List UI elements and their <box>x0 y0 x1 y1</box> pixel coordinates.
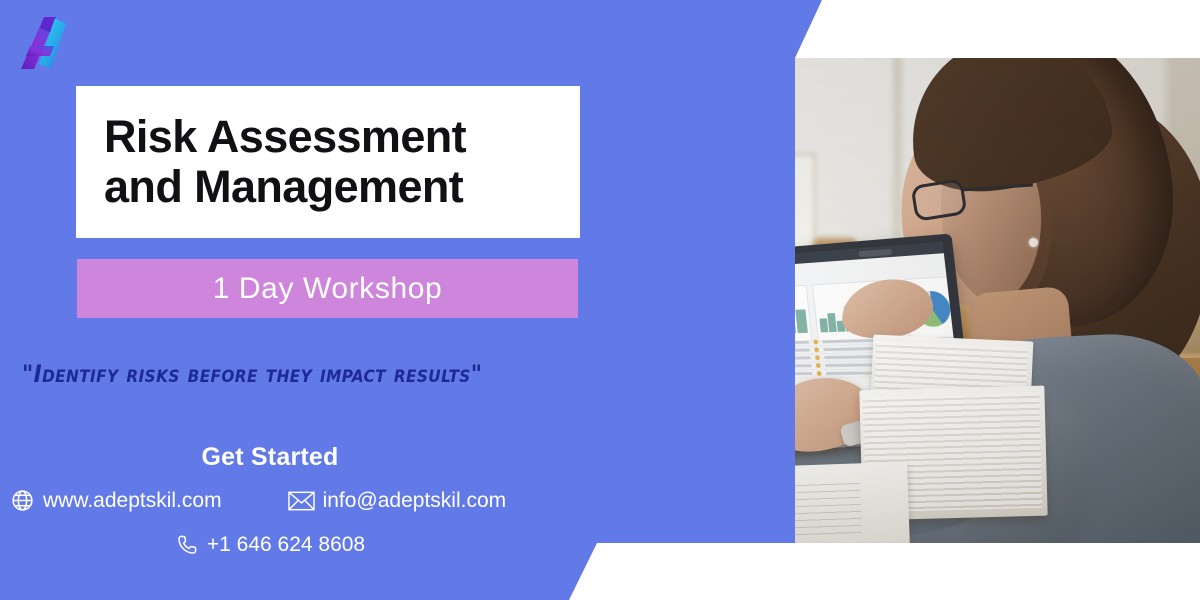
page-title-line-2: and Management <box>104 162 580 212</box>
contact-phone[interactable]: +1 646 624 8608 <box>175 533 365 557</box>
contact-website-text: www.adeptskil.com <box>43 489 222 513</box>
adeptskil-a-logo-icon[interactable] <box>14 12 76 74</box>
contact-email[interactable]: info@adeptskil.com <box>288 489 507 513</box>
contact-phone-text: +1 646 624 8608 <box>207 533 365 557</box>
screen-url-field-2 <box>858 248 892 257</box>
contact-row-secondary: +1 646 624 8608 <box>0 533 540 557</box>
subtitle-text: 1 Day Workshop <box>213 272 443 306</box>
tagline: "Identify risks before they impact resul… <box>22 360 542 388</box>
photo-person-earring <box>1029 238 1038 247</box>
cta-heading: Get Started <box>0 443 540 472</box>
page-title-line-1: Risk Assessment <box>104 112 580 162</box>
promotional-banner: Risk Assessment and Management 1 Day Wor… <box>0 0 1200 600</box>
title-card: Risk Assessment and Management <box>76 86 580 238</box>
contact-website[interactable]: www.adeptskil.com <box>10 488 222 513</box>
subtitle-bar: 1 Day Workshop <box>77 259 578 318</box>
screen-pie-legend <box>953 293 960 315</box>
contact-email-text: info@adeptskil.com <box>323 489 507 513</box>
contact-row-primary: www.adeptskil.com info@adeptskil.com <box>0 488 540 513</box>
envelope-icon <box>288 490 315 512</box>
globe-icon <box>10 488 35 513</box>
phone-icon <box>175 533 199 557</box>
